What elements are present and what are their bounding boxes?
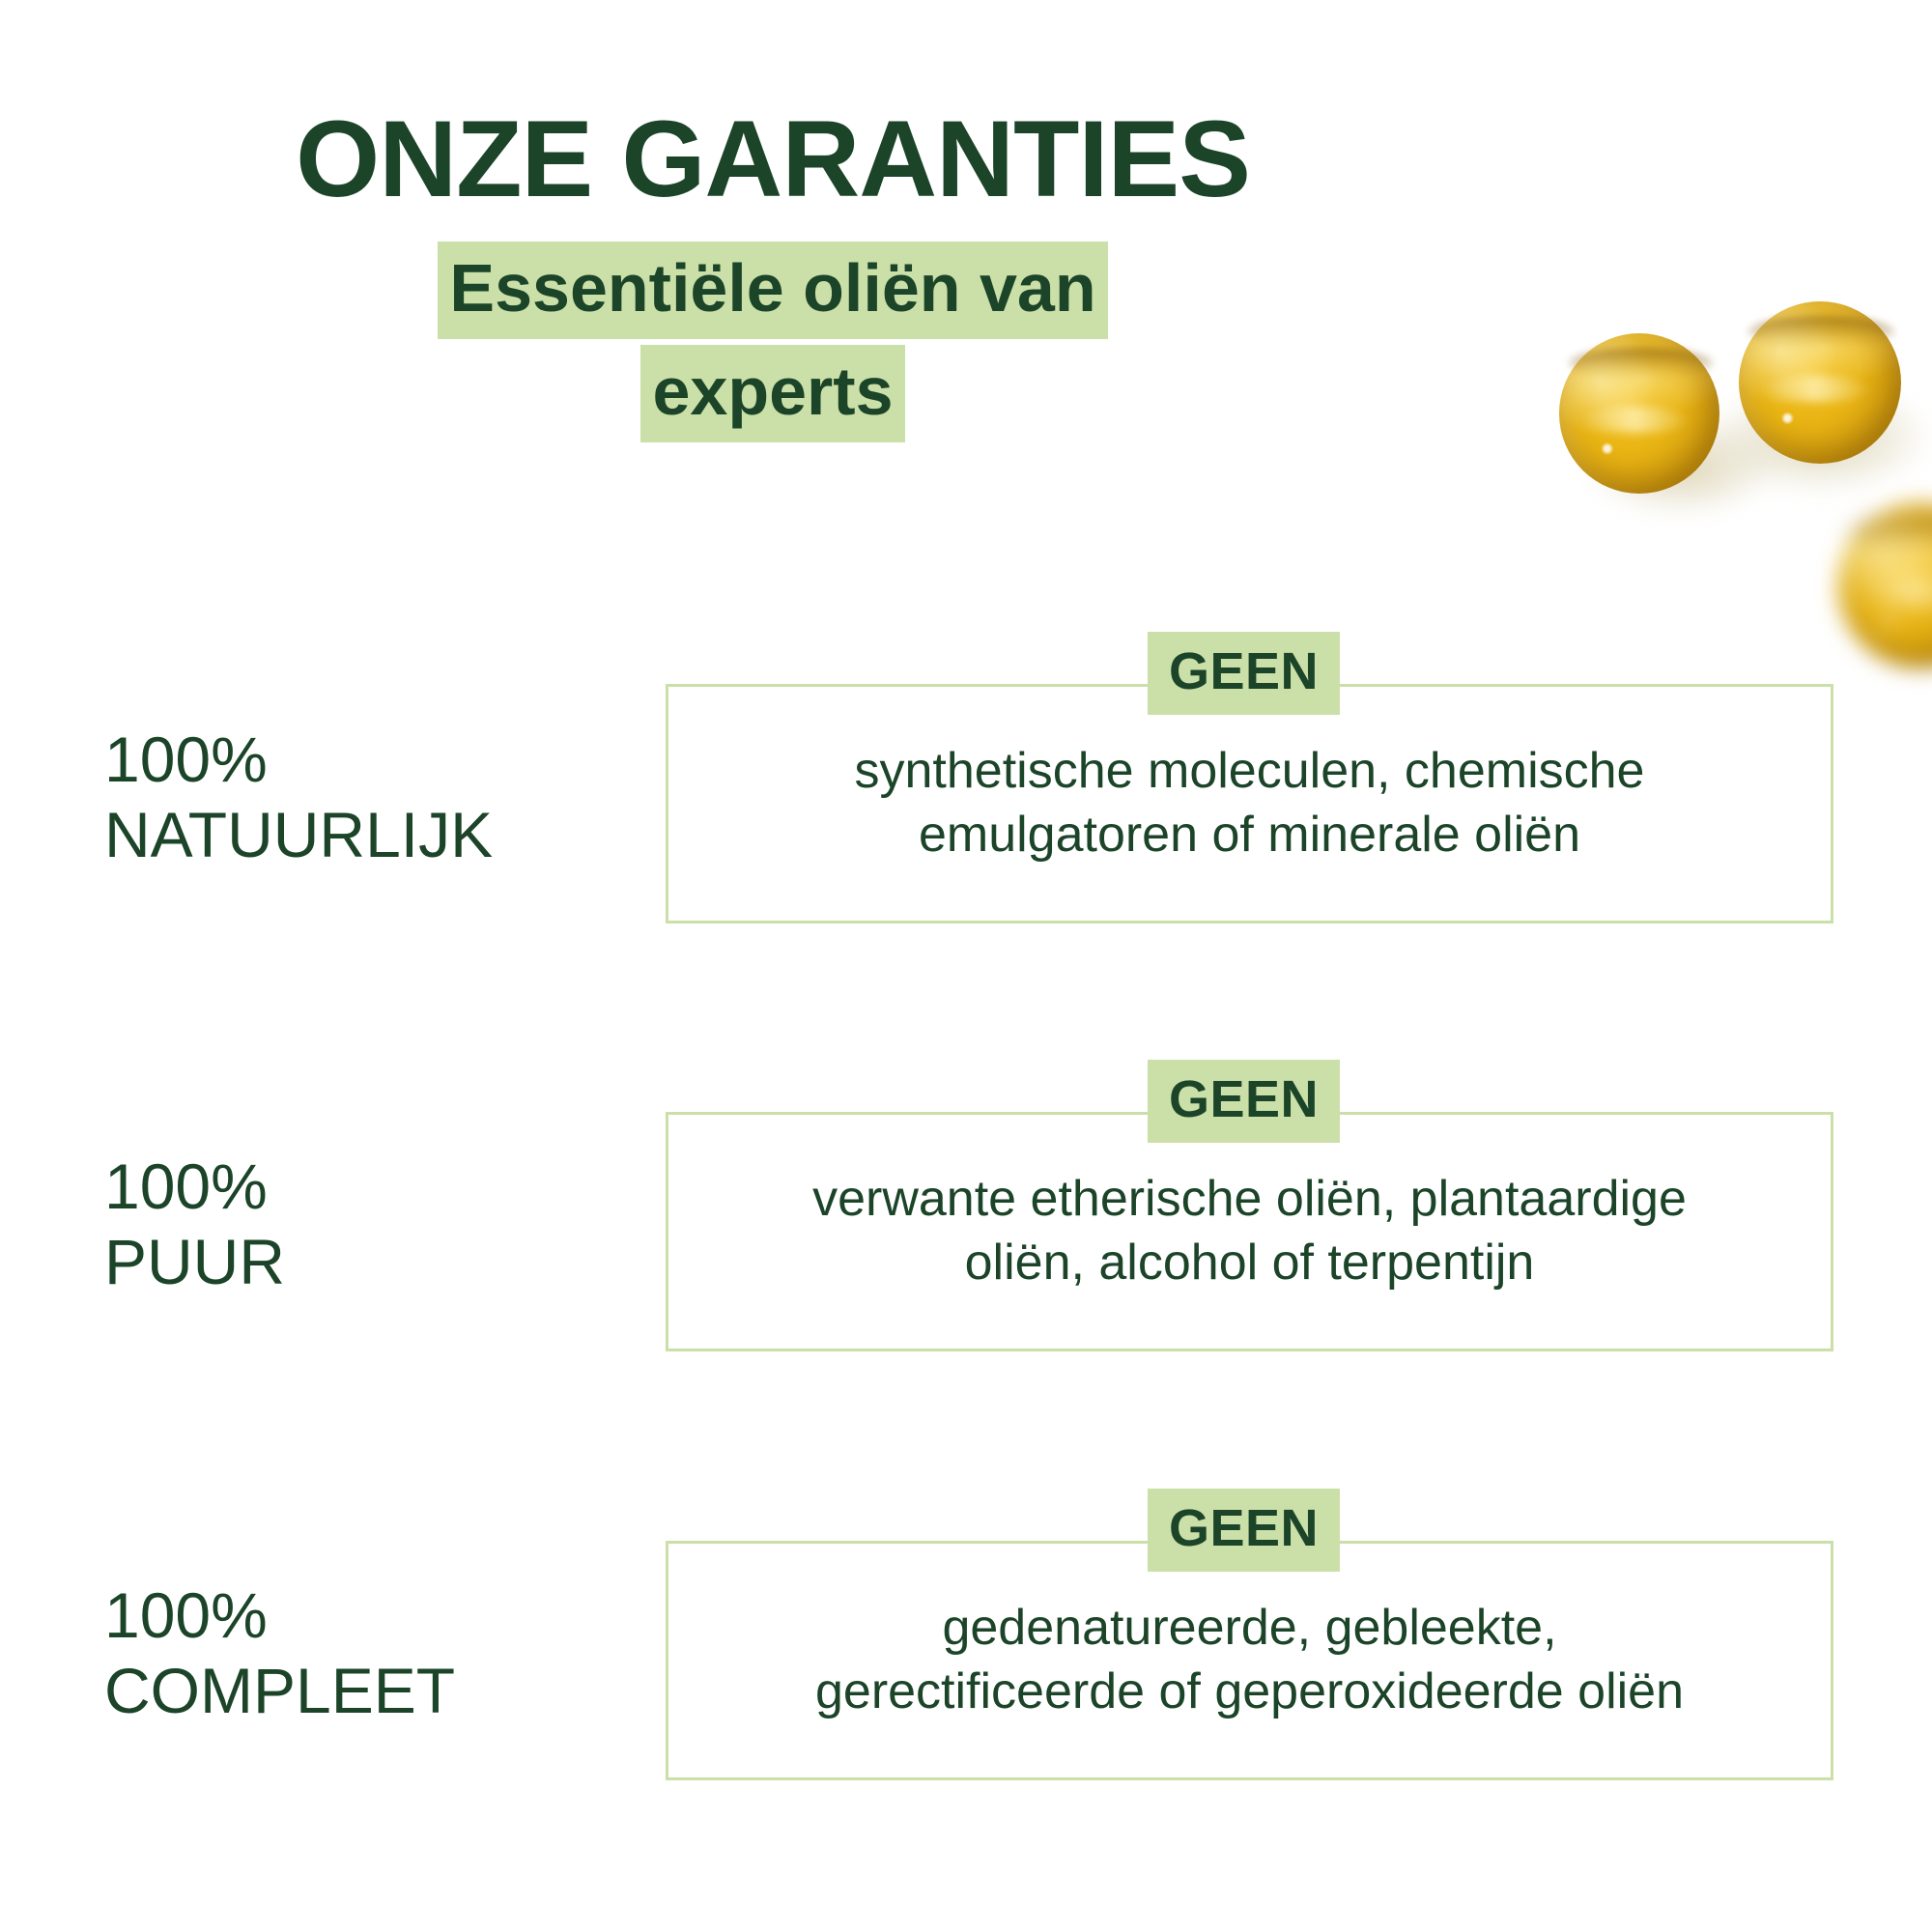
guarantee-exclusion-box-2: verwante etherische oliën, plantaardige …: [666, 1112, 1833, 1351]
guarantee-list: 100% NATUURLIJK synthetische moleculen, …: [0, 0, 1932, 1932]
guarantee-exclusion-box-1: synthetische moleculen, chemische emulga…: [666, 684, 1833, 923]
guarantee-badge-1: GEEN: [1148, 632, 1340, 715]
guarantee-badge-2: GEEN: [1148, 1060, 1340, 1143]
guarantee-label-2: 100% PUUR: [104, 1150, 285, 1300]
guarantee-exclusion-box-3: gedenatureerde, gebleekte, gerectificeer…: [666, 1541, 1833, 1780]
guarantees-infographic: ONZE GARANTIES Essentiële oliën van expe…: [0, 0, 1932, 1932]
guarantee-label-1: 100% NATUURLIJK: [104, 723, 493, 873]
guarantee-badge-3: GEEN: [1148, 1489, 1340, 1572]
guarantee-label-3: 100% COMPLEET: [104, 1578, 455, 1729]
guarantee-exclusion-text-2: verwante etherische oliën, plantaardige …: [780, 1168, 1719, 1294]
guarantee-exclusion-text-3: gedenatureerde, gebleekte, gerectificeer…: [782, 1597, 1717, 1723]
guarantee-exclusion-text-1: synthetische moleculen, chemische emulga…: [822, 740, 1678, 867]
